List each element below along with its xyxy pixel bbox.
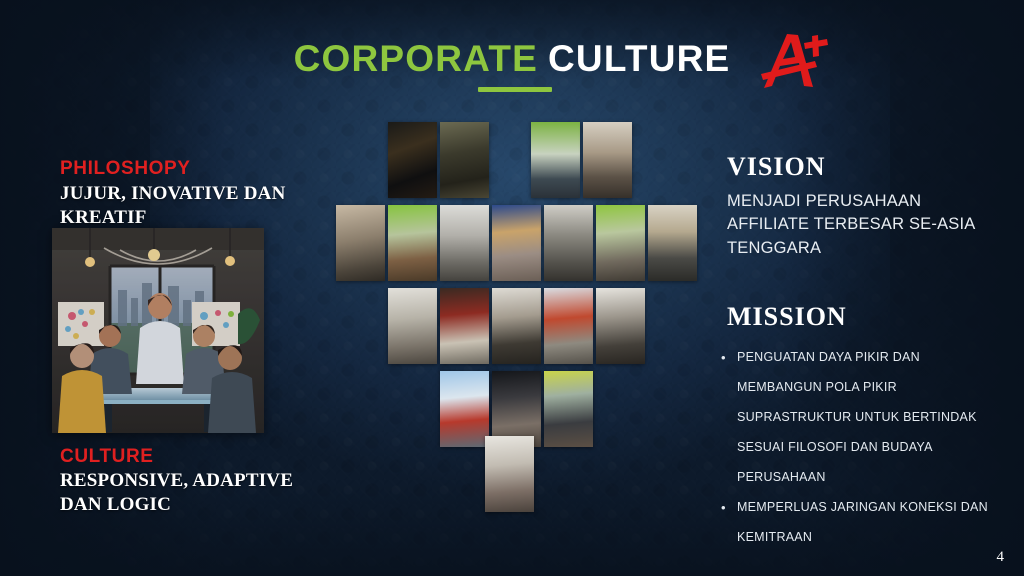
slide-corporate-culture: CORPORATECULTURE PHILOSHOPY JUJUR, INOVA… <box>0 0 1024 576</box>
collage-photo-image <box>544 371 593 447</box>
mission-item-line: SUPRASTRUKTUR UNTUK BERTINDAK <box>719 402 1011 432</box>
collage-photo-image <box>596 205 645 281</box>
collage-photo-image <box>388 122 437 198</box>
page-number: 4 <box>997 549 1005 566</box>
vision-heading: VISION <box>727 152 825 182</box>
collage-photo-equipment-demo-room <box>492 288 541 364</box>
mission-item-line-first: MEMPERLUAS JARINGAN KONEKSI DAN <box>719 492 1011 522</box>
collage-photo-lobby-interior <box>336 205 385 281</box>
mission-item-line: SESUAI FILOSOFI DAN BUDAYA <box>719 432 1011 462</box>
collage-photo-pharmacy-counter-staff <box>648 205 697 281</box>
collage-photo-green-wall-counter <box>388 205 437 281</box>
collage-photo-warehouse-aisle-people <box>544 205 593 281</box>
mission-item-line: MEMBANGUN POLA PIKIR <box>719 372 1011 402</box>
collage-photo-portrait-party-headband <box>492 205 541 281</box>
mission-item-line: KEMITRAAN <box>719 522 1011 552</box>
collage-photo-retail-shelves-staff <box>544 371 593 447</box>
collage-photo-store-counter-staff <box>583 122 632 198</box>
mission-heading: MISSION <box>727 302 847 332</box>
collage-photo-image <box>492 288 541 364</box>
collage-photo-image <box>531 122 580 198</box>
collage-photo-clinic-reception <box>388 288 437 364</box>
mission-list: PENGUATAN DAYA PIKIR DANMEMBANGUN POLA P… <box>719 342 1011 552</box>
mission-item-line: PERUSAHAAN <box>719 462 1011 492</box>
collage-photo-indoor-hall-event <box>440 122 489 198</box>
collage-photo-image <box>596 288 645 364</box>
mission-item: PENGUATAN DAYA PIKIR DANMEMBANGUN POLA P… <box>719 342 1011 492</box>
collage-photo-night-outdoor-gathering <box>388 122 437 198</box>
collage-photo-image <box>440 288 489 364</box>
collage-photo-small-room-training <box>485 436 534 512</box>
collage-photo-office-walkway-people <box>440 205 489 281</box>
vision-text: MENJADI PERUSAHAAN AFFILIATE TERBESAR SE… <box>727 190 1002 260</box>
collage-photo-image <box>485 436 534 512</box>
collage-photo-green-wall-shop-floor <box>596 205 645 281</box>
collage-photo-audience-raising-hands <box>596 288 645 364</box>
collage-photo-green-wall-office-group <box>531 122 580 198</box>
collage-photo-outdoor-ceremony-flags <box>440 371 489 447</box>
collage-photo-image <box>648 205 697 281</box>
mission-item: MEMPERLUAS JARINGAN KONEKSI DANKEMITRAAN <box>719 492 1011 552</box>
mission-item-line-first: PENGUATAN DAYA PIKIR DAN <box>719 342 1011 372</box>
collage-photo-outdoor-event-tent <box>544 288 593 364</box>
collage-photo-image <box>440 205 489 281</box>
collage-photo-image <box>388 288 437 364</box>
collage-photo-image <box>544 205 593 281</box>
collage-photo-image <box>440 122 489 198</box>
collage-photo-red-banner-meeting-hall <box>440 288 489 364</box>
collage-photo-image <box>440 371 489 447</box>
collage-photo-image <box>492 205 541 281</box>
collage-photo-image <box>388 205 437 281</box>
collage-photo-image <box>336 205 385 281</box>
collage-photo-image <box>544 288 593 364</box>
collage-photo-image <box>583 122 632 198</box>
